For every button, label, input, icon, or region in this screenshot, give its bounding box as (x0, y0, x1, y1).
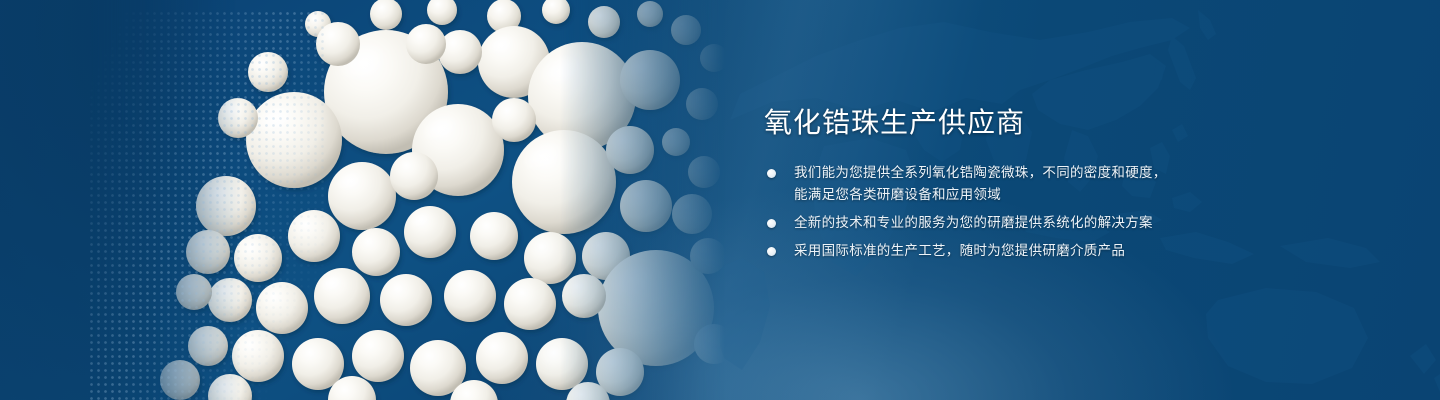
list-item: 采用国际标准的生产工艺，随时为您提供研磨介质产品 (764, 240, 1264, 262)
page-title: 氧化锆珠生产供应商 (764, 106, 1264, 140)
list-item-line: 能满足您各类研磨设备和应用领域 (794, 184, 1264, 206)
list-item: 全新的技术和专业的服务为您的研磨提供系统化的解决方案 (764, 212, 1264, 234)
list-item-line: 采用国际标准的生产工艺，随时为您提供研磨介质产品 (794, 240, 1264, 262)
hero-banner: 氧化锆珠生产供应商 我们能为您提供全系列氧化锆陶瓷微珠，不同的密度和硬度， 能满… (0, 0, 1440, 400)
list-item: 我们能为您提供全系列氧化锆陶瓷微珠，不同的密度和硬度， 能满足您各类研磨设备和应… (764, 162, 1264, 206)
feature-list: 我们能为您提供全系列氧化锆陶瓷微珠，不同的密度和硬度， 能满足您各类研磨设备和应… (764, 162, 1264, 262)
round-bullet-icon (767, 219, 776, 228)
round-bullet-icon (767, 247, 776, 256)
product-photo-zirconia-beads (90, 0, 730, 400)
list-item-line: 我们能为您提供全系列氧化锆陶瓷微珠，不同的密度和硬度， (794, 162, 1264, 184)
round-bullet-icon (767, 169, 776, 178)
list-item-line: 全新的技术和专业的服务为您的研磨提供系统化的解决方案 (794, 212, 1264, 234)
banner-content: 氧化锆珠生产供应商 我们能为您提供全系列氧化锆陶瓷微珠，不同的密度和硬度， 能满… (764, 106, 1264, 262)
